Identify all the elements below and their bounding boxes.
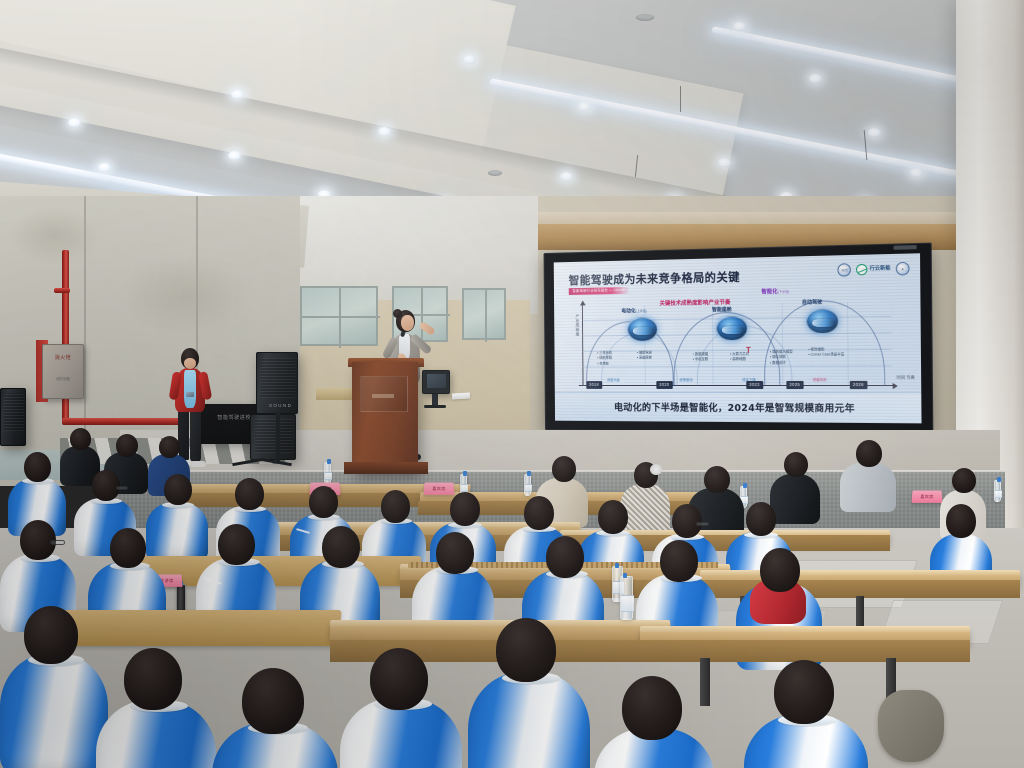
adult-head bbox=[856, 440, 882, 467]
downlight bbox=[910, 168, 923, 177]
bullets-group-3: • 数据规模• 车机互联 bbox=[693, 352, 708, 363]
podium-monitor bbox=[422, 370, 450, 394]
downlight bbox=[68, 118, 81, 127]
student-head bbox=[235, 478, 264, 510]
bench-desk-edge-row4 bbox=[330, 620, 670, 626]
bench-leg bbox=[700, 658, 710, 706]
loudspeaker-far-left bbox=[0, 388, 26, 446]
year-chip-2025: 2025 bbox=[786, 381, 803, 389]
assistant-leg-right bbox=[190, 408, 201, 462]
downlight bbox=[809, 74, 822, 83]
water-bottle bbox=[620, 576, 633, 620]
student-head bbox=[746, 502, 776, 536]
orb-label-autonomy: 自动驾驶 bbox=[802, 298, 822, 305]
student-head bbox=[164, 474, 192, 505]
student-head bbox=[24, 452, 51, 482]
student-head bbox=[774, 660, 834, 724]
loudspeaker-sub bbox=[250, 414, 296, 460]
student-head bbox=[309, 486, 338, 518]
student-head bbox=[672, 504, 702, 538]
student-uniform bbox=[146, 502, 208, 560]
bullets-group-5: • 端到端大模型• 城区领航• 数据闭环 bbox=[770, 350, 793, 367]
tesla-logo-icon: T bbox=[746, 346, 751, 355]
water-bottle bbox=[524, 474, 531, 496]
chart-y-axis-label: 产业成熟度 bbox=[575, 314, 581, 336]
paper-stack bbox=[452, 393, 470, 400]
fire-hydrant-sublabel: 消防设备 bbox=[56, 377, 70, 382]
window-right bbox=[462, 288, 506, 340]
orb-cockpit-icon bbox=[716, 316, 748, 341]
hanging-wire bbox=[680, 86, 681, 112]
student-head bbox=[110, 528, 146, 568]
adult-head bbox=[116, 434, 138, 457]
assistant-blue-shirt bbox=[184, 370, 196, 408]
slide-title: 智能驾驶成为未来竞争格局的关键 bbox=[569, 269, 740, 288]
phase-label-intelligence: 智能化(下半场) bbox=[761, 287, 789, 296]
student-head bbox=[370, 648, 428, 710]
student-head bbox=[242, 668, 304, 734]
downlight bbox=[228, 151, 241, 160]
presenter-hair bbox=[393, 309, 402, 318]
student-head bbox=[124, 648, 182, 710]
student-head bbox=[450, 492, 480, 526]
presenter-face bbox=[401, 315, 414, 331]
downlight bbox=[98, 163, 111, 172]
institute-seal-logo: ★ bbox=[896, 262, 910, 276]
hair-clip bbox=[650, 464, 662, 475]
org-seal-logo: 中汽 bbox=[838, 263, 852, 277]
assistant-face bbox=[184, 358, 196, 369]
student-head bbox=[381, 490, 410, 523]
presenter-forearm-right bbox=[419, 321, 436, 336]
student-head bbox=[24, 606, 78, 664]
fire-hydrant-label: 消火栓 bbox=[55, 354, 72, 361]
adult-head bbox=[70, 428, 91, 450]
adult-head bbox=[159, 436, 180, 458]
auditorium-presentation-photo: 消火栓 消防设备 智能驾驶成为未来竞争格局的关键 智能驾驶行业研究报告 — 20… bbox=[0, 0, 1024, 768]
adult-head bbox=[784, 452, 808, 477]
adult-head bbox=[952, 468, 976, 493]
bench-back-row4 bbox=[38, 610, 341, 646]
monitor-foot bbox=[424, 405, 446, 408]
water-bottle bbox=[994, 480, 1001, 502]
student-head bbox=[946, 504, 976, 538]
slide-footer-text: 电动化的下半场是智能化，2024年是智驾规模商用元年 bbox=[555, 399, 922, 415]
orb-label-electrification: 电动化(上半场) bbox=[621, 307, 646, 314]
adult-head bbox=[552, 456, 576, 482]
podium-nameplate bbox=[372, 394, 394, 398]
bullets-group-2: • 辅助驾驶• 高级座舱 bbox=[637, 351, 652, 362]
downlight bbox=[463, 55, 476, 64]
wall-stain bbox=[10, 206, 100, 266]
student-head bbox=[524, 496, 554, 530]
bench-desk-edge-row4b bbox=[640, 626, 970, 632]
assistant-shoe-right bbox=[190, 461, 206, 467]
downlight bbox=[378, 127, 391, 136]
student-head bbox=[760, 548, 800, 592]
bench-desk-edge-row3b bbox=[700, 570, 1020, 575]
glasses bbox=[116, 486, 128, 490]
speaker-stand bbox=[276, 412, 280, 462]
glasses bbox=[50, 540, 65, 545]
screen-bezel-badge bbox=[893, 245, 916, 250]
downlight bbox=[718, 158, 731, 167]
fire-hydrant-cabinet: 消火栓 消防设备 bbox=[42, 344, 84, 399]
xingyun-mark-icon bbox=[857, 264, 869, 276]
bullets-group-1: • 三电系统• 续航里程• 充电桩 bbox=[597, 351, 612, 367]
chart-y-axis bbox=[582, 304, 584, 386]
student-head bbox=[436, 532, 474, 574]
adult-shirt bbox=[840, 462, 896, 512]
year-chip-2023: 2023 bbox=[746, 381, 763, 389]
year-chip-2026: 2026 bbox=[850, 381, 867, 389]
slide-ribbon-tag: 智能驾驶行业研究报告 — 2024年 bbox=[569, 287, 630, 295]
downlight bbox=[560, 172, 573, 181]
wall-stain bbox=[120, 256, 250, 336]
student-head bbox=[598, 500, 628, 534]
orb-electrification-icon bbox=[627, 317, 658, 342]
name-card: 嘉宾席 bbox=[423, 483, 454, 495]
adult-coat bbox=[770, 474, 820, 524]
student-uniform bbox=[468, 672, 590, 768]
year-chip-2018: 2018 bbox=[586, 381, 602, 389]
backpack bbox=[878, 690, 944, 762]
downlight bbox=[733, 22, 746, 31]
xingyun-logo-text: 行云新能 bbox=[870, 266, 891, 272]
window-left bbox=[300, 286, 378, 346]
water-bottle bbox=[324, 462, 331, 484]
bullets-group-6: • 视觉辅助• Corner Case场景丰富 bbox=[808, 347, 844, 358]
student-head bbox=[546, 536, 584, 578]
bench-front-row4 bbox=[330, 640, 970, 662]
adult-patterned-jacket bbox=[620, 484, 670, 536]
mini-note-1: 消费升级 bbox=[607, 377, 620, 382]
downlight bbox=[231, 90, 244, 99]
orb-label-cockpit: 智能座舱 bbox=[712, 306, 732, 313]
mobile-phone bbox=[186, 392, 194, 397]
speaker-brand-label: SOUND bbox=[269, 403, 292, 408]
adult-head bbox=[704, 466, 730, 493]
glasses bbox=[696, 522, 709, 526]
mini-note-4: 规模商用 bbox=[813, 377, 827, 382]
student-head bbox=[496, 618, 556, 682]
student-uniform bbox=[0, 654, 108, 768]
xingyun-logo: 行云新能 bbox=[857, 263, 891, 275]
student-head bbox=[322, 526, 360, 568]
ceiling-fixture bbox=[636, 14, 654, 21]
assistant-leg-left bbox=[178, 408, 189, 462]
fire-pipe-branch bbox=[54, 288, 70, 293]
student-head bbox=[218, 524, 255, 565]
smoke-detector-icon bbox=[488, 170, 502, 176]
name-card: 嘉宾席 bbox=[911, 491, 942, 503]
student-head bbox=[660, 540, 698, 582]
year-chip-2020: 2020 bbox=[656, 381, 672, 389]
downlight bbox=[578, 102, 591, 111]
chart-x-axis-label: 时间 节奏 bbox=[897, 376, 915, 381]
podium-base bbox=[344, 462, 428, 474]
slide-canvas: 智能驾驶成为未来竞争格局的关键 智能驾驶行业研究报告 — 2024年 关键技术成… bbox=[554, 253, 922, 423]
slide-logo-group: 中汽 行云新能 ★ bbox=[838, 262, 910, 277]
downlight bbox=[868, 128, 881, 137]
led-wall-screen[interactable]: 智能驾驶成为未来竞争格局的关键 智能驾驶行业研究报告 — 2024年 关键技术成… bbox=[544, 243, 934, 434]
student-head bbox=[622, 676, 682, 740]
mini-note-2: 政策驱动 bbox=[679, 377, 692, 382]
loudspeaker-top: SOUND bbox=[256, 352, 298, 414]
